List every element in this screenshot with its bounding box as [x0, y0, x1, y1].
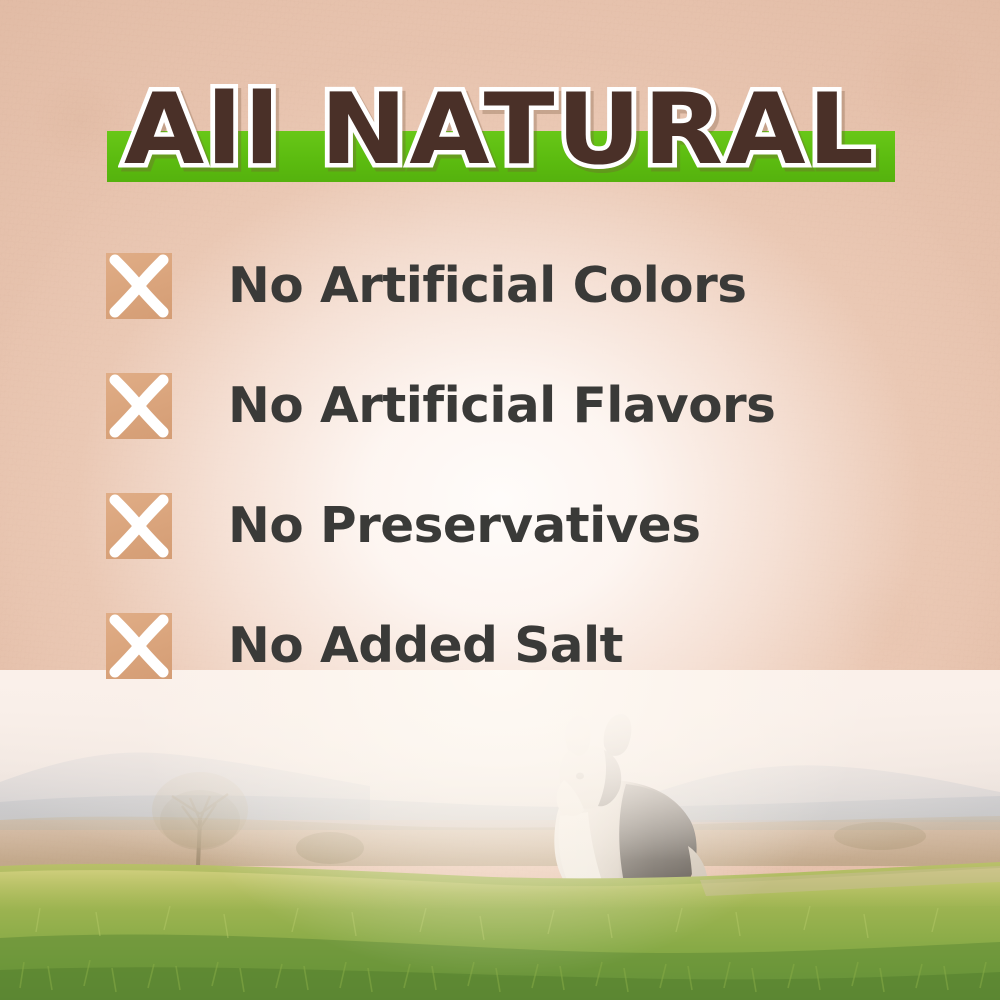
list-item: No Artificial Colors: [106, 252, 926, 320]
list-item-label: No Added Salt: [228, 618, 623, 674]
x-mark-glyph: [106, 253, 172, 319]
x-mark-icon: [106, 613, 172, 679]
page-title: All NATURAL: [0, 78, 1000, 182]
benefits-list: No Artificial Colors No Artificial Flavo…: [106, 252, 926, 680]
all-natural-poster: All NATURAL No Artificial Colors No Arti…: [0, 0, 1000, 1000]
title-block: All NATURAL: [0, 78, 1000, 194]
landscape-photo: [0, 670, 1000, 1000]
x-mark-glyph: [106, 373, 172, 439]
list-item-label: No Preservatives: [228, 498, 700, 554]
list-item: No Artificial Flavors: [106, 372, 926, 440]
x-mark-icon: [106, 373, 172, 439]
x-mark-glyph: [106, 493, 172, 559]
list-item-label: No Artificial Flavors: [228, 378, 775, 434]
landscape-illustration: [0, 670, 1000, 1000]
x-mark-icon: [106, 253, 172, 319]
x-mark-icon: [106, 493, 172, 559]
list-item-label: No Artificial Colors: [228, 258, 746, 314]
list-item: No Preservatives: [106, 492, 926, 560]
list-item: No Added Salt: [106, 612, 926, 680]
x-mark-glyph: [106, 613, 172, 679]
